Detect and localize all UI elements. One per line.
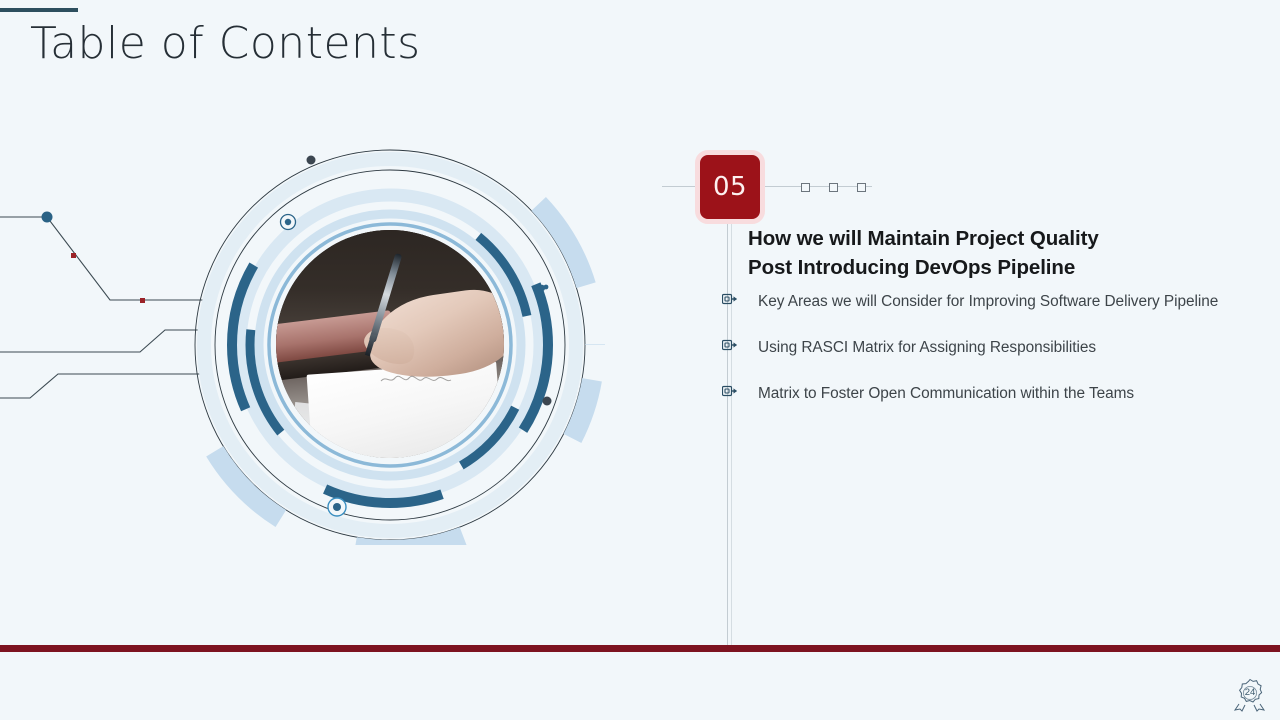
circuit-node-square: [71, 253, 76, 258]
page-number-label: 24: [1241, 686, 1259, 699]
connector-line-right: [756, 186, 872, 187]
ring-marker-dot: [544, 285, 549, 290]
section-bullet-list: Key Areas we will Consider for Improving…: [722, 290, 1242, 428]
section-heading-line-2: Post Introducing DevOps Pipeline: [748, 253, 1188, 282]
circular-photo: [276, 230, 504, 458]
list-item[interactable]: Matrix to Foster Open Communication with…: [722, 382, 1242, 405]
connector-square-marker: [857, 183, 866, 192]
page-title: Table of Contents: [30, 18, 421, 69]
pointing-hand-icon: [722, 292, 738, 310]
list-item-label: Key Areas we will Consider for Improving…: [758, 290, 1242, 313]
bottom-accent-bar: [0, 645, 1280, 652]
vertical-rail-line: [727, 220, 728, 650]
list-item[interactable]: Key Areas we will Consider for Improving…: [722, 290, 1242, 313]
list-item-label: Matrix to Foster Open Communication with…: [758, 382, 1242, 405]
circuit-node-square: [140, 298, 145, 303]
section-heading-line-1: How we will Maintain Project Quality: [748, 224, 1188, 253]
list-item-label: Using RASCI Matrix for Assigning Respons…: [758, 336, 1242, 359]
circuit-node-dot: [42, 212, 53, 223]
ring-target-marker: [328, 498, 346, 516]
connector-square-marker: [801, 183, 810, 192]
section-number-label: 05: [713, 172, 747, 202]
vertical-rail-line-secondary: [731, 220, 732, 650]
pointing-hand-icon: [722, 384, 738, 402]
slide-canvas: Table of Contents: [0, 0, 1280, 720]
ring-marker-dot: [307, 156, 316, 165]
pointing-hand-icon: [722, 338, 738, 356]
ring-marker-dot: [543, 397, 552, 406]
top-accent-bar: [0, 8, 78, 12]
connector-square-marker: [829, 183, 838, 192]
section-number-badge[interactable]: 05: [695, 150, 765, 224]
list-item[interactable]: Using RASCI Matrix for Assigning Respons…: [722, 336, 1242, 359]
ring-target-marker: [281, 215, 296, 230]
section-heading: How we will Maintain Project Quality Pos…: [748, 224, 1188, 282]
